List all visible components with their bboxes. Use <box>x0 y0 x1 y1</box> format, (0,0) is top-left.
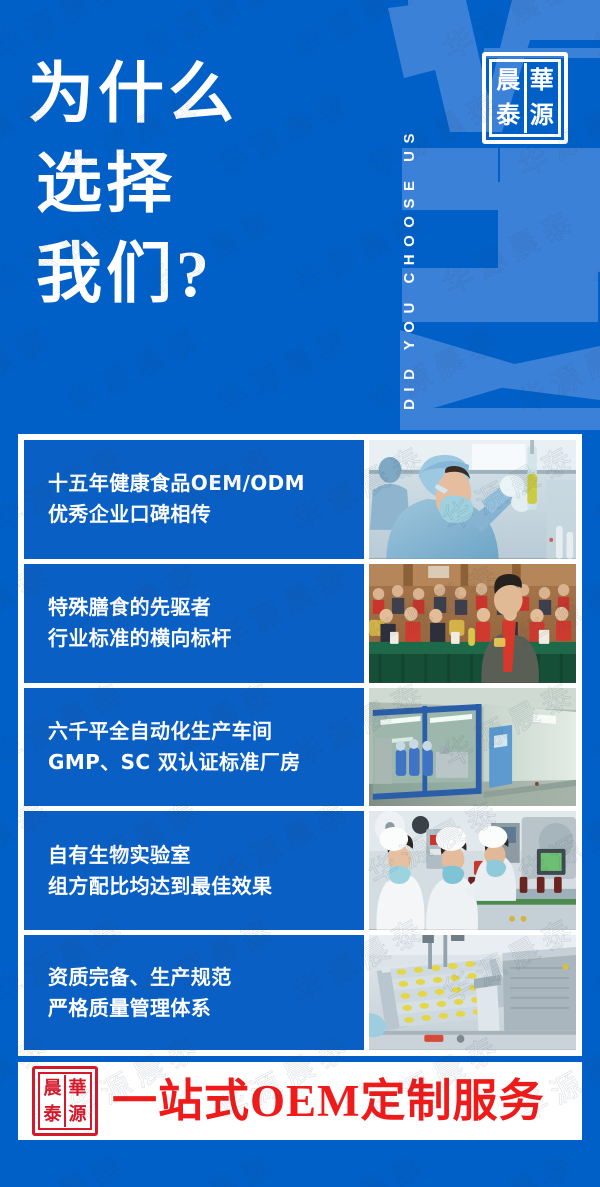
feature-line-2: GMP、SC 双认证标准厂房 <box>48 747 364 778</box>
feature-text-pane: 六千平全自动化生产车间 GMP、SC 双认证标准厂房 <box>24 688 364 807</box>
lab-technician-illustration <box>369 440 576 559</box>
page-title: 为什么 选择 我们? <box>28 50 378 319</box>
vertical-english-caption: DID YOU CHOOSE US <box>396 18 422 410</box>
footer-banner: 晨 華 泰 源 一站式OEM定制服务 <box>18 1062 582 1140</box>
page-title-line-2: 选择 <box>28 140 378 230</box>
svg-text:华源晨泰: 华源晨泰 <box>438 1148 584 1187</box>
seal-char-1: 晨 <box>493 63 524 98</box>
blister-packaging-illustration <box>369 935 576 1050</box>
feature-line-2: 优秀企业口碑相传 <box>48 499 364 530</box>
page-title-line-1: 为什么 <box>28 50 378 140</box>
svg-text:华源晨泰: 华源晨泰 <box>0 322 59 421</box>
feature-line-2: 行业标准的横向标杆 <box>48 623 364 654</box>
svg-text:华源晨泰: 华源晨泰 <box>588 440 600 539</box>
feature-card-list: 十五年健康食品OEM/ODM 优秀企业口碑相传 <box>24 440 576 1050</box>
feature-line-2: 组方配比均达到最佳效果 <box>48 871 364 902</box>
footer-seal-char-3: 泰 <box>41 1101 64 1127</box>
feature-card[interactable]: 六千平全自动化生产车间 GMP、SC 双认证标准厂房 <box>24 688 576 807</box>
poster-root: 为什么 选择 我们? DID YOU CHOOSE US 晨 華 泰 源 十五年… <box>0 0 600 1187</box>
feature-text-pane: 特殊膳食的先驱者 行业标准的横向标杆 <box>24 564 364 683</box>
feature-text-pane: 资质完备、生产规范 严格质量管理体系 <box>24 935 364 1050</box>
svg-text:华源晨泰: 华源晨泰 <box>588 676 600 775</box>
seal-char-2: 華 <box>527 63 558 98</box>
company-seal-header: 晨 華 泰 源 <box>482 52 568 144</box>
feature-card[interactable]: 资质完备、生产规范 严格质量管理体系 <box>24 935 576 1050</box>
svg-text:华源晨泰: 华源晨泰 <box>63 322 209 421</box>
footer-seal-char-1: 晨 <box>41 1075 64 1101</box>
feature-line-1: 特殊膳食的先驱者 <box>48 592 364 623</box>
feature-line-1: 资质完备、生产规范 <box>48 962 364 993</box>
production-line-staff-illustration <box>369 811 576 930</box>
page-title-line-3: 我们? <box>28 230 378 320</box>
footer-slogan: 一站式OEM定制服务 <box>112 1079 545 1124</box>
svg-text:华源晨泰: 华源晨泰 <box>588 1148 600 1187</box>
svg-text:华源晨泰: 华源晨泰 <box>588 912 600 1011</box>
feature-text-pane: 十五年健康食品OEM/ODM 优秀企业口碑相传 <box>24 440 364 559</box>
feature-card[interactable]: 特殊膳食的先驱者 行业标准的横向标杆 <box>24 564 576 683</box>
production-line-staff-photo <box>369 811 576 930</box>
feature-card[interactable]: 十五年健康食品OEM/ODM 优秀企业口碑相传 <box>24 440 576 559</box>
company-seal-footer: 晨 華 泰 源 <box>32 1066 98 1136</box>
conference-hall-illustration <box>369 564 576 683</box>
seal-char-4: 源 <box>527 98 558 133</box>
footer-seal-char-2: 華 <box>66 1075 89 1101</box>
blister-packaging-photo <box>369 935 576 1050</box>
svg-text:华源晨泰: 华源晨泰 <box>213 322 359 421</box>
svg-text:华源晨泰: 华源晨泰 <box>288 1148 434 1187</box>
svg-text:华源晨泰: 华源晨泰 <box>138 1148 284 1187</box>
feature-card[interactable]: 自有生物实验室 组方配比均达到最佳效果 <box>24 811 576 930</box>
cleanroom-corridor-photo <box>369 688 576 807</box>
feature-line-1: 十五年健康食品OEM/ODM <box>48 468 364 499</box>
seal-char-3: 泰 <box>493 98 524 133</box>
conference-hall-photo <box>369 564 576 683</box>
svg-text:华源晨泰: 华源晨泰 <box>0 1148 134 1187</box>
feature-line-1: 六千平全自动化生产车间 <box>48 716 364 747</box>
feature-line-2: 严格质量管理体系 <box>48 993 364 1024</box>
feature-text-pane: 自有生物实验室 组方配比均达到最佳效果 <box>24 811 364 930</box>
footer-seal-char-4: 源 <box>66 1101 89 1127</box>
lab-technician-photo <box>369 440 576 559</box>
vertical-english-text: DID YOU CHOOSE US <box>401 126 418 410</box>
feature-line-1: 自有生物实验室 <box>48 840 364 871</box>
cleanroom-corridor-illustration <box>369 688 576 807</box>
